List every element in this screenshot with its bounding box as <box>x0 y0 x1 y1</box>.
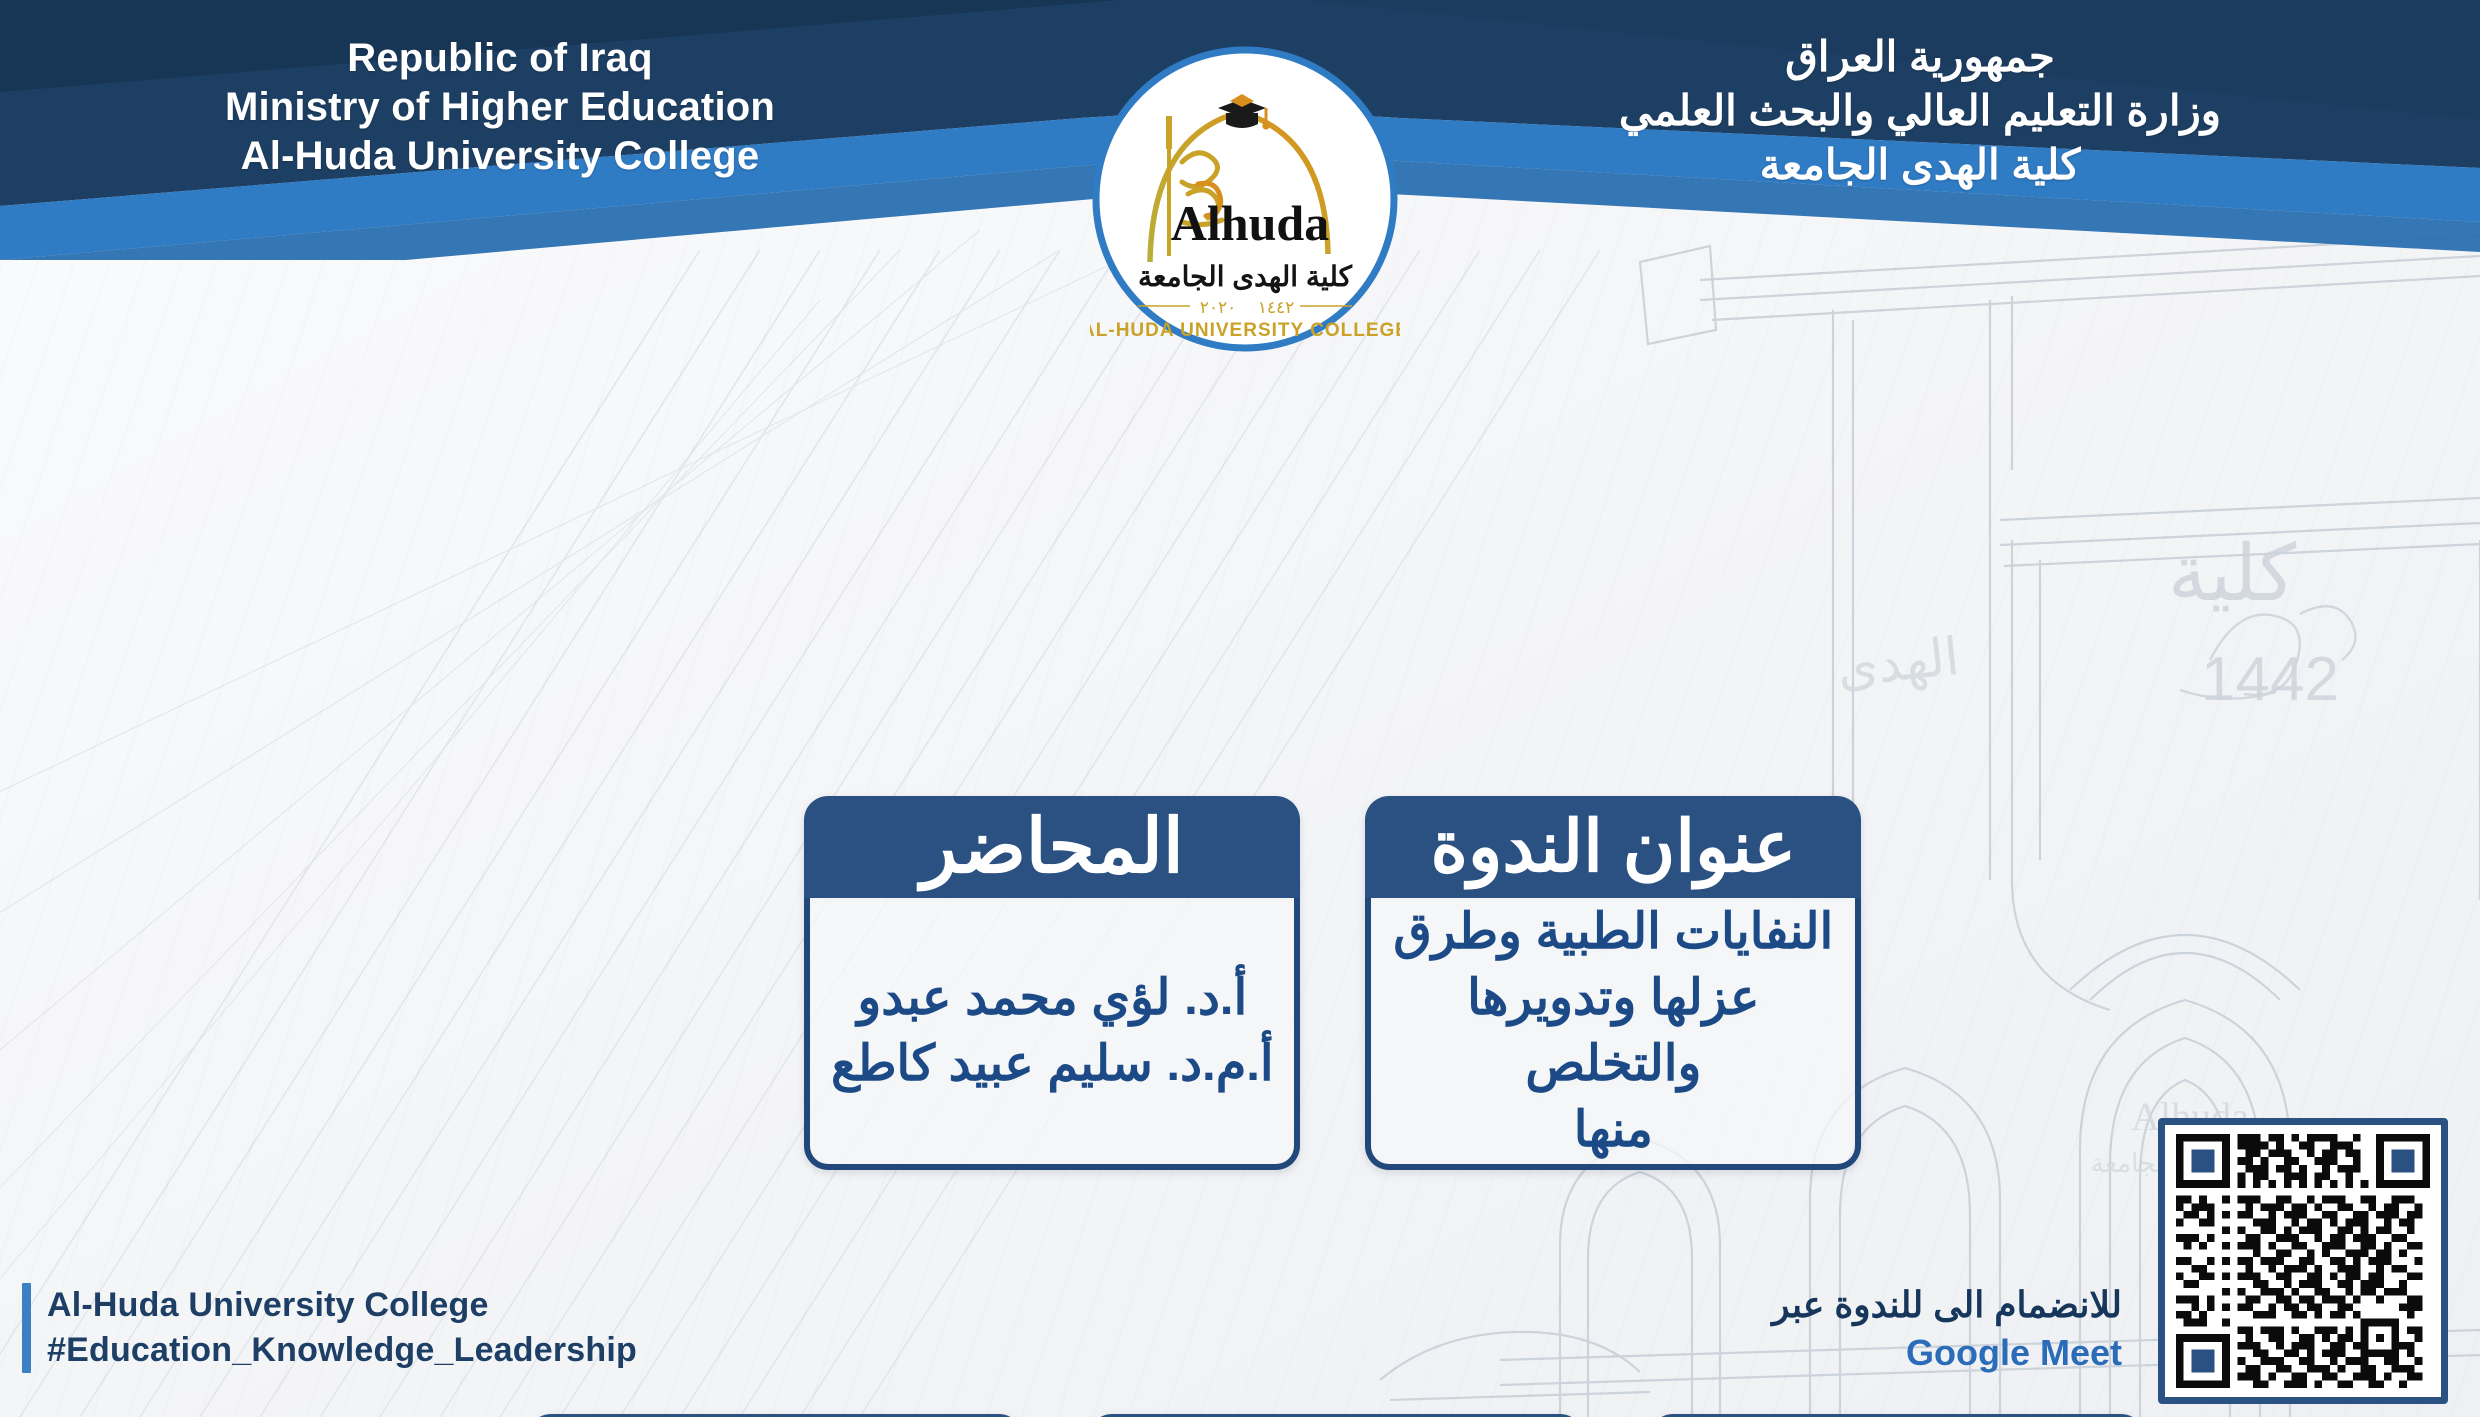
join-instructions: للانضمام الى للندوة عبر Google Meet <box>1772 1283 2122 1375</box>
card-lecturer-title: المحاضر <box>804 796 1300 898</box>
lecturer-name-1: أ.د. لؤي محمد عبدو <box>857 965 1247 1031</box>
logo-year-gregorian: ٢٠٢٠ <box>1200 298 1237 317</box>
card-lecturer: المحاضر أ.د. لؤي محمد عبدو أ.م.د. سليم ع… <box>804 796 1300 1170</box>
join-platform-name: Google Meet <box>1772 1330 2122 1375</box>
header-right-line-3: كلية الهدى الجامعة <box>1420 138 2420 192</box>
qr-code[interactable] <box>2158 1118 2448 1404</box>
logo-arabic-name: كلية الهدى الجامعة <box>1138 261 1353 294</box>
header-right-text: جمهورية العراق وزارة التعليم العالي والب… <box>1420 30 2420 191</box>
logo-wordmark: Alhuda <box>1171 195 1329 251</box>
header-right-line-1: جمهورية العراق <box>1420 30 2420 84</box>
university-logo: Alhuda كلية الهدى الجامعة ٢٠٢٠ ١٤٤٢ AL-H… <box>1090 44 1400 354</box>
poster-root: 1442 كلية الهدى Alhuda كلية الهدى الجامع… <box>0 0 2480 1417</box>
header-left-line-1: Republic of Iraq <box>0 34 1000 83</box>
seminar-title-line-2: عزلها وتدويرها والتخلص <box>1387 965 1839 1097</box>
header-left-line-2: Ministry of Higher Education <box>0 83 1000 132</box>
footer-branding: Al-Huda University College #Education_Kn… <box>22 1283 637 1373</box>
card-lecturer-body: أ.د. لؤي محمد عبدو أ.م.د. سليم عبيد كاطع <box>804 898 1300 1170</box>
card-seminar-title-body: النفايات الطبية وطرق عزلها وتدويرها والت… <box>1365 898 1861 1170</box>
footer-accent-bar <box>22 1283 31 1373</box>
logo-year-hijri: ١٤٤٢ <box>1258 298 1295 317</box>
header-left-line-3: Al-Huda University College <box>0 132 1000 181</box>
logo-english-name: AL-HUDA UNIVERSITY COLLEGE <box>1090 320 1400 341</box>
card-seminar-title: عنوان الندوة النفايات الطبية وطرق عزلها … <box>1365 796 1861 1170</box>
footer-text: Al-Huda University College #Education_Kn… <box>47 1283 637 1373</box>
card-seminar-title-heading: عنوان الندوة <box>1365 796 1861 898</box>
header-right-line-2: وزارة التعليم العالي والبحث العلمي <box>1420 84 2420 138</box>
seminar-title-line-1: النفايات الطبية وطرق <box>1393 899 1833 965</box>
lecturer-name-2: أ.م.د. سليم عبيد كاطع <box>831 1031 1274 1097</box>
join-arabic-text: للانضمام الى للندوة عبر <box>1772 1283 2122 1326</box>
footer-college-name: Al-Huda University College <box>47 1283 637 1328</box>
footer-hashtag: #Education_Knowledge_Leadership <box>47 1328 637 1373</box>
header-left-text: Republic of Iraq Ministry of Higher Educ… <box>0 34 1000 180</box>
seminar-title-line-3: منها <box>1574 1097 1653 1163</box>
